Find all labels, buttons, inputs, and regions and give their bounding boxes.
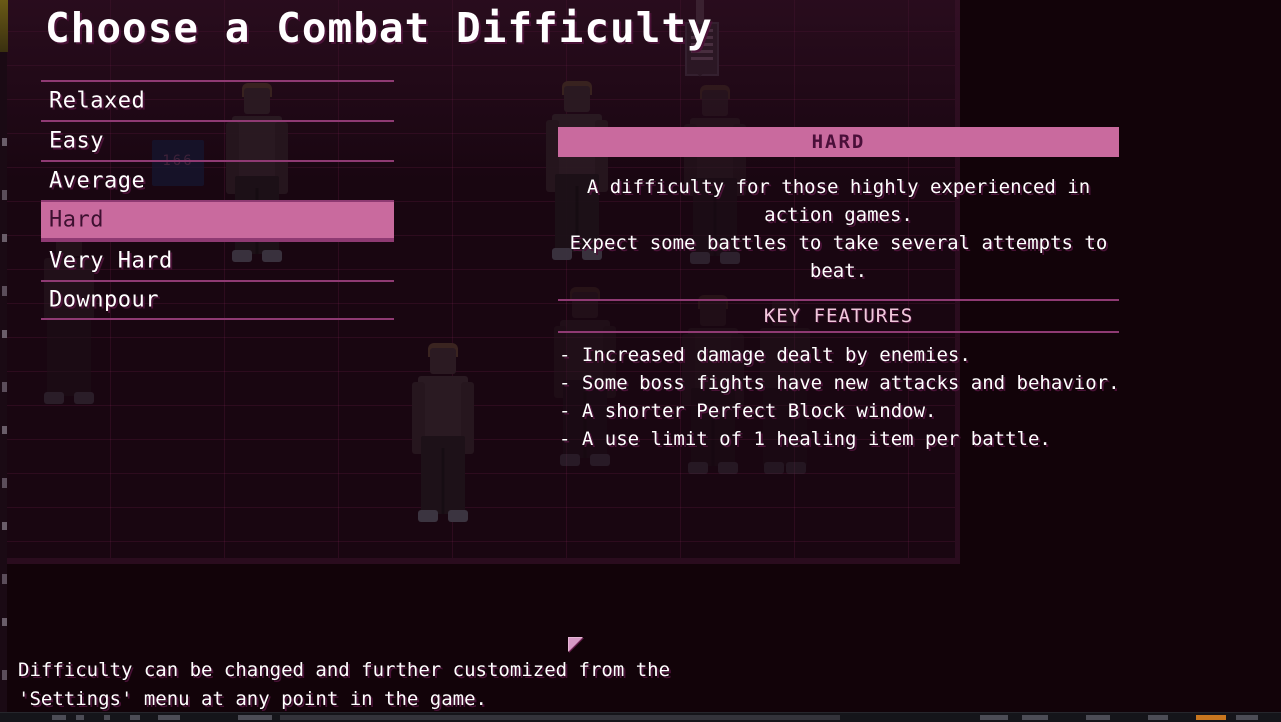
hint-text-line: 'Settings' menu at any point in the game… xyxy=(18,685,638,714)
screen-edge-flecks xyxy=(2,120,7,680)
difficulty-option-label: Relaxed xyxy=(49,89,145,114)
key-feature-item: - Increased damage dealt by enemies. xyxy=(558,341,1119,369)
taskbar-item[interactable] xyxy=(1086,715,1110,720)
difficulty-option-label: Average xyxy=(49,169,145,194)
key-features-list: - Increased damage dealt by enemies. - S… xyxy=(558,341,1119,453)
difficulty-info-panel: HARD A difficulty for those highly exper… xyxy=(558,127,1119,453)
sprite-head xyxy=(702,90,728,116)
hint-text-box: Difficulty can be changed and further cu… xyxy=(18,656,638,714)
sprite-foot-right xyxy=(590,454,610,466)
taskbar-item[interactable] xyxy=(980,715,1008,720)
difficulty-description-line: A difficulty for those highly experience… xyxy=(558,173,1119,229)
sprite-foot-right xyxy=(74,392,94,404)
difficulty-option-hard[interactable]: Hard xyxy=(41,200,394,240)
taskbar-item-highlighted[interactable] xyxy=(1196,715,1226,720)
difficulty-name-banner: HARD xyxy=(558,127,1119,157)
os-taskbar-sliver[interactable] xyxy=(0,712,1281,722)
difficulty-description-line: Expect some battles to take several atte… xyxy=(558,229,1119,285)
key-features-heading-label: KEY FEATURES xyxy=(764,305,913,327)
difficulty-option-downpour[interactable]: Downpour xyxy=(41,280,394,320)
fixture-tip xyxy=(696,72,704,77)
taskbar-item[interactable] xyxy=(130,715,140,720)
difficulty-description: A difficulty for those highly experience… xyxy=(558,173,1119,285)
sprite-foot-right xyxy=(786,462,806,474)
sprite-foot-left xyxy=(764,462,784,474)
sprite-foot-left xyxy=(688,462,708,474)
game-screen: 166 xyxy=(0,0,1281,722)
taskbar-item[interactable] xyxy=(1022,715,1048,720)
continue-arrow-icon-fill xyxy=(569,638,582,651)
taskbar-item[interactable] xyxy=(238,715,272,720)
key-feature-item: - A use limit of 1 healing item per batt… xyxy=(558,425,1119,453)
sprite-legs xyxy=(47,318,91,396)
difficulty-option-list: Relaxed Easy Average Hard Very Hard Down… xyxy=(41,80,394,320)
taskbar-item[interactable] xyxy=(76,715,84,720)
difficulty-option-easy[interactable]: Easy xyxy=(41,120,394,160)
taskbar-item[interactable] xyxy=(158,715,180,720)
screen-edge-yellow-strip xyxy=(0,0,8,52)
taskbar-item[interactable] xyxy=(52,715,66,720)
difficulty-option-label: Downpour xyxy=(49,288,159,313)
sprite-foot-right xyxy=(448,510,468,522)
sprite-head xyxy=(430,348,456,374)
sprite-head xyxy=(564,86,590,112)
difficulty-name-banner-label: HARD xyxy=(812,131,866,153)
difficulty-option-label: Very Hard xyxy=(49,249,173,274)
difficulty-option-very-hard[interactable]: Very Hard xyxy=(41,240,394,280)
taskbar-item[interactable] xyxy=(1236,715,1258,720)
key-features-heading: KEY FEATURES xyxy=(558,299,1119,333)
page-title: Choose a Combat Difficulty xyxy=(45,8,713,49)
sprite-leg-split xyxy=(442,448,445,514)
taskbar-item[interactable] xyxy=(1148,715,1168,720)
sprite-foot-left xyxy=(44,392,64,404)
difficulty-option-label: Hard xyxy=(49,208,104,233)
difficulty-option-relaxed[interactable]: Relaxed xyxy=(41,80,394,120)
taskbar-item[interactable] xyxy=(104,715,110,720)
key-feature-item: - A shorter Perfect Block window. xyxy=(558,397,1119,425)
difficulty-option-average[interactable]: Average xyxy=(41,160,394,200)
background-character-sprite xyxy=(414,348,472,528)
taskbar-item[interactable] xyxy=(280,715,840,720)
sprite-foot-left xyxy=(418,510,438,522)
key-feature-item: - Some boss fights have new attacks and … xyxy=(558,369,1119,397)
sprite-foot-right xyxy=(718,462,738,474)
sprite-foot-left xyxy=(560,454,580,466)
hint-text-line: Difficulty can be changed and further cu… xyxy=(18,656,638,685)
difficulty-option-label: Easy xyxy=(49,129,104,154)
